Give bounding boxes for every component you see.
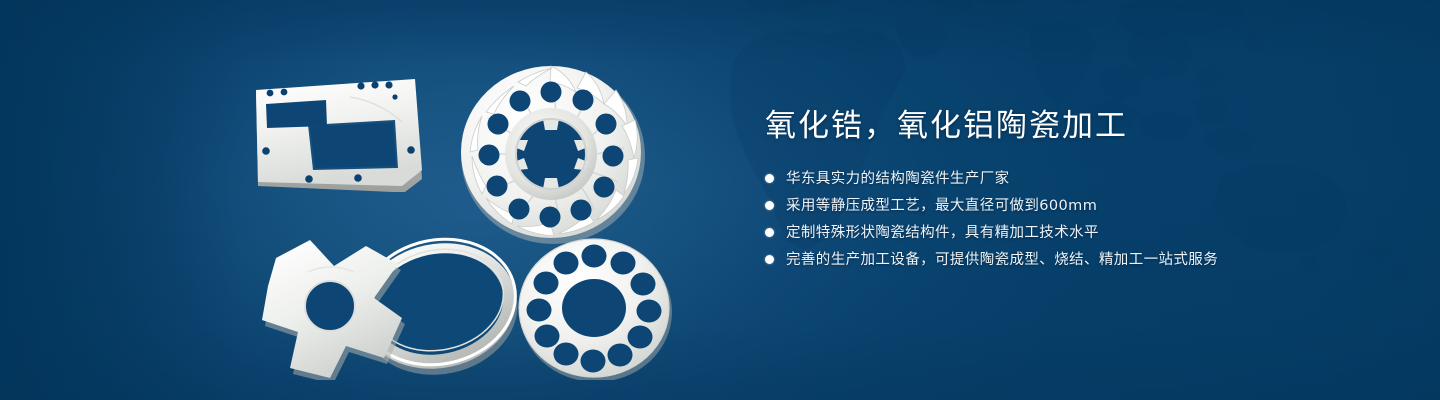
list-item: 华东具实力的结构陶瓷件生产厂家 (765, 166, 1385, 191)
bullet-dot-icon (765, 255, 774, 264)
feature-list: 华东具实力的结构陶瓷件生产厂家 采用等静压成型工艺，最大直径可做到600mm 定… (765, 166, 1385, 272)
ceramic-perforated-disc (519, 239, 672, 380)
bullet-dot-icon (765, 228, 774, 237)
bullet-dot-icon (765, 201, 774, 210)
list-item: 定制特殊形状陶瓷结构件，具有精加工技术水平 (765, 220, 1385, 245)
banner-headline: 氧化锆，氧化铝陶瓷加工 (765, 106, 1385, 146)
feature-text: 完善的生产加工设备，可提供陶瓷成型、烧结、精加工一站式服务 (786, 250, 1218, 270)
list-item: 采用等静压成型工艺，最大直径可做到600mm (765, 193, 1385, 218)
ceramic-products-image (230, 40, 700, 380)
feature-text: 采用等静压成型工艺，最大直径可做到600mm (786, 196, 1097, 216)
promo-banner: 氧化锆，氧化铝陶瓷加工 华东具实力的结构陶瓷件生产厂家 采用等静压成型工艺，最大… (0, 0, 1440, 400)
list-item: 完善的生产加工设备，可提供陶瓷成型、烧结、精加工一站式服务 (765, 247, 1385, 272)
bullet-dot-icon (765, 174, 774, 183)
ceramic-cross-part (262, 240, 405, 380)
ceramic-machined-plate (256, 79, 422, 192)
banner-copy: 氧化锆，氧化铝陶瓷加工 华东具实力的结构陶瓷件生产厂家 采用等静压成型工艺，最大… (765, 106, 1385, 274)
feature-text: 华东具实力的结构陶瓷件生产厂家 (786, 169, 1010, 189)
ceramic-vaned-impeller (461, 66, 645, 244)
feature-text: 定制特殊形状陶瓷结构件，具有精加工技术水平 (786, 223, 1099, 243)
